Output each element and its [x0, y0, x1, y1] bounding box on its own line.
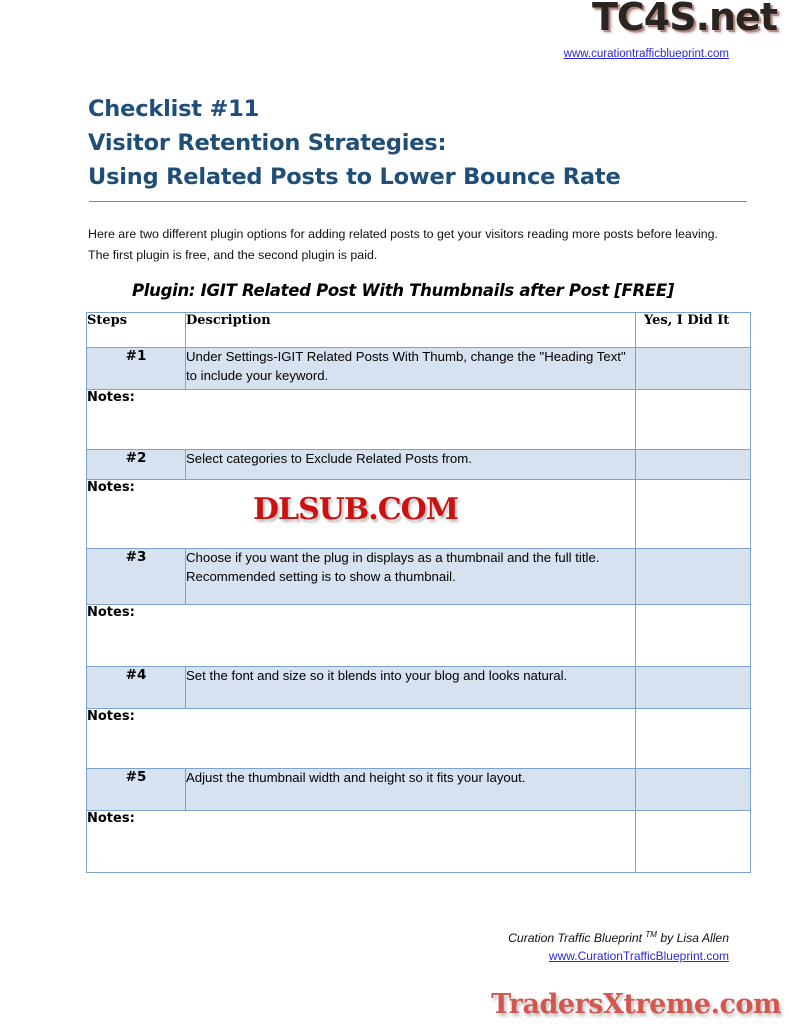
step-description: Under Settings-IGIT Related Posts With T… [186, 348, 636, 390]
footer: Curation Traffic Blueprint TM by Lisa Al… [309, 926, 729, 965]
footer-credit-suffix: by Lisa Allen [657, 931, 729, 945]
title-line-3: Using Related Posts to Lower Bounce Rate [88, 160, 748, 194]
footer-url-link[interactable]: www.CurationTrafficBlueprint.com [549, 949, 729, 963]
step-number: #4 [87, 667, 186, 709]
page-title: Checklist #11 Visitor Retention Strategi… [88, 92, 748, 210]
notes-label[interactable]: Notes: [87, 709, 636, 769]
step-number: #5 [87, 769, 186, 811]
notes-row: Notes: [87, 709, 751, 769]
yes-checkbox-cell[interactable] [636, 450, 751, 480]
notes-label[interactable]: Notes: [87, 811, 636, 873]
document-page: TC4S.net www.curationtrafficblueprint.co… [0, 0, 791, 1024]
notes-row: Notes: [87, 390, 751, 450]
title-line-2: Visitor Retention Strategies: [88, 126, 748, 160]
header-url-link[interactable]: www.curationtrafficblueprint.com [564, 48, 729, 60]
table-row: #2 Select categories to Exclude Related … [87, 450, 751, 480]
table-row: #5 Adjust the thumbnail width and height… [87, 769, 751, 811]
yes-checkbox-cell[interactable] [636, 667, 751, 709]
table-header-row: Steps Description Yes, I Did It [87, 313, 751, 348]
yes-checkbox-cell[interactable] [636, 605, 751, 667]
step-description: Set the font and size so it blends into … [186, 667, 636, 709]
step-description: Select categories to Exclude Related Pos… [186, 450, 636, 480]
table-row: #3 Choose if you want the plug in displa… [87, 549, 751, 605]
step-number: #2 [87, 450, 186, 480]
table-row: #1 Under Settings-IGIT Related Posts Wit… [87, 348, 751, 390]
yes-checkbox-cell[interactable] [636, 390, 751, 450]
table-row: #4 Set the font and size so it blends in… [87, 667, 751, 709]
step-description: Adjust the thumbnail width and height so… [186, 769, 636, 811]
column-header-description: Description [186, 313, 636, 348]
yes-checkbox-cell[interactable] [636, 709, 751, 769]
notes-row: Notes: [87, 480, 751, 549]
footer-credit-prefix: Curation Traffic Blueprint [508, 931, 645, 945]
yes-checkbox-cell[interactable] [636, 549, 751, 605]
tc4s-watermark: TC4S.net [592, 0, 777, 36]
tradersxtreme-watermark: TradersXtreme.com [491, 989, 781, 1020]
step-number: #3 [87, 549, 186, 605]
notes-label[interactable]: Notes: [87, 480, 636, 549]
trademark-mark: TM [645, 930, 657, 939]
notes-label[interactable]: Notes: [87, 605, 636, 667]
yes-checkbox-cell[interactable] [636, 811, 751, 873]
step-description: Choose if you want the plug in displays … [186, 549, 636, 605]
column-header-yes: Yes, I Did It [636, 313, 751, 348]
notes-row: Notes: [87, 605, 751, 667]
notes-row: Notes: [87, 811, 751, 873]
yes-checkbox-cell[interactable] [636, 480, 751, 549]
yes-checkbox-cell[interactable] [636, 348, 751, 390]
title-divider [89, 201, 747, 202]
step-number: #1 [87, 348, 186, 390]
intro-paragraph: Here are two different plugin options fo… [88, 224, 726, 266]
checklist-table: Steps Description Yes, I Did It #1 Under… [86, 312, 751, 873]
footer-credit: Curation Traffic Blueprint TM by Lisa Al… [309, 926, 729, 947]
yes-checkbox-cell[interactable] [636, 769, 751, 811]
column-header-steps: Steps [87, 313, 186, 348]
notes-label[interactable]: Notes: [87, 390, 636, 450]
plugin-heading: Plugin: IGIT Related Post With Thumbnail… [132, 281, 674, 300]
title-line-1: Checklist #11 [88, 92, 748, 126]
